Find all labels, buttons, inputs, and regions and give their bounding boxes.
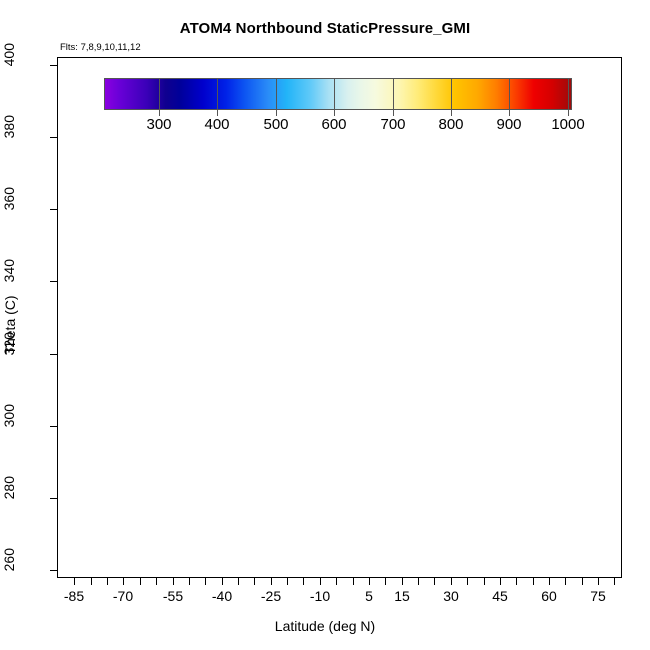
colorbar-tick-label: 500: [263, 116, 288, 133]
x-axis-tick: [500, 578, 501, 585]
x-axis-tick: [74, 578, 75, 585]
y-axis-tick-label: 280: [1, 476, 45, 499]
x-axis-tick: [516, 578, 517, 585]
y-axis-tick: [50, 354, 57, 355]
x-axis-tick: [140, 578, 141, 585]
x-axis-tick: [385, 578, 386, 585]
x-axis-tick: [173, 578, 174, 585]
x-axis-tick: [451, 578, 452, 585]
x-axis-tick: [303, 578, 304, 585]
y-axis-tick: [50, 209, 57, 210]
x-axis-tick: [107, 578, 108, 585]
colorbar-tick-label: 400: [204, 116, 229, 133]
x-axis-tick: [287, 578, 288, 585]
x-axis-tick-label: -10: [310, 588, 330, 604]
x-axis-tick: [614, 578, 615, 585]
x-axis-tick: [418, 578, 419, 585]
x-axis-tick: [336, 578, 337, 585]
y-axis-tick-label: 340: [1, 259, 45, 282]
colorbar-tick: [217, 78, 218, 116]
flights-label: Flts: 7,8,9,10,11,12: [60, 42, 141, 53]
y-axis-tick: [50, 498, 57, 499]
x-axis-tick: [238, 578, 239, 585]
colorbar-tick: [451, 78, 452, 116]
x-axis-tick-label: -40: [212, 588, 232, 604]
colorbar-tick: [159, 78, 160, 116]
colorbar-tick-label: 300: [146, 116, 171, 133]
y-axis-tick: [50, 137, 57, 138]
page-title: ATOM4 Northbound StaticPressure_GMI: [0, 20, 650, 37]
x-axis-tick-label: -70: [113, 588, 133, 604]
y-axis-tick-label: 300: [1, 404, 45, 427]
colorbar-tick-label: 900: [496, 116, 521, 133]
x-axis-tick: [189, 578, 190, 585]
y-axis-tick-label: 260: [1, 548, 45, 571]
colorbar-tick: [276, 78, 277, 116]
x-axis-tick: [565, 578, 566, 585]
x-axis-tick: [353, 578, 354, 585]
y-axis-tick-label: 400: [1, 43, 45, 66]
x-axis-title: Latitude (deg N): [0, 618, 650, 634]
colorbar-tick: [568, 78, 569, 116]
plot-frame: [57, 57, 622, 578]
x-axis-tick: [123, 578, 124, 585]
x-axis-tick-label: -85: [64, 588, 84, 604]
y-axis-tick: [50, 426, 57, 427]
y-axis-tick-label: 360: [1, 187, 45, 210]
x-axis-tick: [533, 578, 534, 585]
y-axis-tick: [50, 281, 57, 282]
colorbar-tick: [393, 78, 394, 116]
x-axis-tick: [222, 578, 223, 585]
x-axis-tick: [156, 578, 157, 585]
x-axis-tick: [549, 578, 550, 585]
y-axis-tick-label: 380: [1, 115, 45, 138]
x-axis-tick: [402, 578, 403, 585]
y-axis-tick-label: 320: [1, 332, 45, 355]
x-axis-tick-label: -55: [163, 588, 183, 604]
x-axis-tick-label: 30: [443, 588, 459, 604]
x-axis-tick-label: 15: [394, 588, 410, 604]
x-axis-tick: [271, 578, 272, 585]
x-axis-tick: [369, 578, 370, 585]
x-axis-tick-label: -25: [261, 588, 281, 604]
colorbar-tick-label: 1000: [551, 116, 584, 133]
x-axis-tick: [582, 578, 583, 585]
x-axis-tick-label: 75: [590, 588, 606, 604]
x-axis-tick: [320, 578, 321, 585]
colorbar-tick-label: 800: [438, 116, 463, 133]
figure-root: ATOM4 Northbound StaticPressure_GMI Flts…: [0, 0, 650, 650]
x-axis-tick: [254, 578, 255, 585]
x-axis-tick-label: 45: [492, 588, 508, 604]
y-axis-tick: [50, 65, 57, 66]
x-axis-tick: [484, 578, 485, 585]
colorbar-tick: [509, 78, 510, 116]
colorbar-gradient: [104, 78, 572, 110]
x-axis-tick: [434, 578, 435, 585]
x-axis-tick: [598, 578, 599, 585]
colorbar-tick-label: 600: [321, 116, 346, 133]
colorbar-tick: [334, 78, 335, 116]
x-axis-tick-label: 60: [541, 588, 557, 604]
x-axis-tick-label: 5: [365, 588, 373, 604]
y-axis-tick: [50, 570, 57, 571]
x-axis-tick: [467, 578, 468, 585]
x-axis-tick: [205, 578, 206, 585]
x-axis-tick: [91, 578, 92, 585]
colorbar[interactable]: [104, 78, 572, 110]
colorbar-tick-label: 700: [380, 116, 405, 133]
